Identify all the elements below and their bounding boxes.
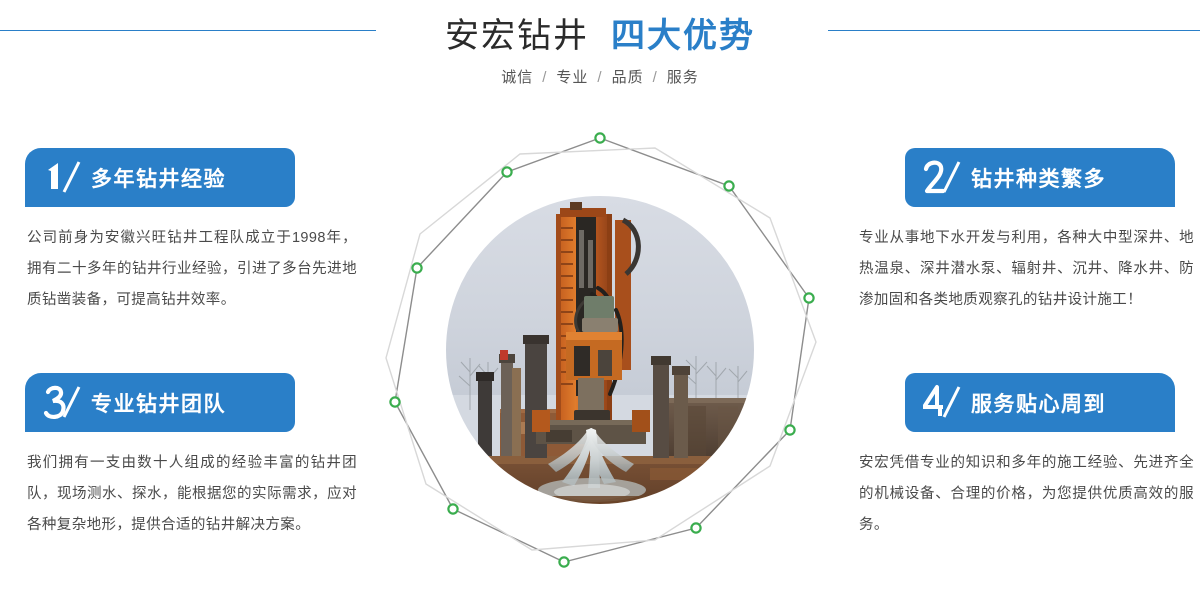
vertex-marker-left (412, 263, 421, 272)
feature-4-title: 服务贴心周到 (971, 388, 1106, 418)
subtitle-separator-2: / (653, 69, 658, 86)
page-header: 安宏钻井四大优势 诚信/专业/品质/服务 (0, 0, 1200, 110)
subtitle-separator-1: / (597, 69, 602, 86)
feature-2-title: 钻井种类繁多 (971, 163, 1106, 193)
subtitle-item-3: 服务 (667, 69, 699, 86)
feature-3-body: 我们拥有一支由数十人组成的经验丰富的钻井团队，现场测水、探水，能根据您的实际需求… (27, 448, 357, 541)
number-three-icon (43, 383, 85, 423)
feature-card-4[interactable]: 服务贴心周到 安宏凭借专业的知识和多年的施工经验、先进齐全的机械设备、合理的价格… (845, 373, 1175, 541)
subtitle-list: 诚信/专业/品质/服务 (0, 66, 1200, 87)
vertex-marker-bottom-right (691, 523, 700, 532)
vertex-marker-upper-right (724, 181, 733, 190)
feature-2-header: 钻井种类繁多 (905, 148, 1175, 207)
feature-card-3[interactable]: 专业钻井团队 我们拥有一支由数十人组成的经验丰富的钻井团队，现场测水、探水，能根… (25, 373, 355, 541)
number-one-icon (43, 158, 85, 198)
vertex-marker-right (804, 293, 813, 302)
vertex-marker-top (595, 133, 604, 142)
feature-2-body: 专业从事地下水开发与利用，各种大中型深井、地热温泉、深井潜水泵、辐射井、沉井、降… (859, 223, 1194, 316)
feature-1-title: 多年钻井经验 (91, 163, 226, 193)
vertex-marker-bottom-left (448, 504, 457, 513)
feature-card-2[interactable]: 钻井种类繁多 专业从事地下水开发与利用，各种大中型深井、地热温泉、深井潜水泵、辐… (845, 148, 1175, 316)
subtitle-separator-0: / (542, 69, 547, 86)
feature-1-body: 公司前身为安徽兴旺钻井工程队成立于1998年，拥有二十多年的钻井行业经验，引进了… (27, 223, 357, 316)
subtitle-item-2: 品质 (612, 69, 644, 86)
center-graphic (360, 110, 840, 590)
vertex-marker-bottom (559, 557, 568, 566)
vertex-marker-upper-left (502, 167, 511, 176)
feature-1-header: 多年钻井经验 (25, 148, 295, 207)
vertex-marker-lower-left (390, 397, 399, 406)
subtitle-item-0: 诚信 (501, 69, 533, 86)
feature-4-header: 服务贴心周到 (905, 373, 1175, 432)
feature-card-1[interactable]: 多年钻井经验 公司前身为安徽兴旺钻井工程队成立于1998年，拥有二十多年的钻井行… (25, 148, 355, 316)
page-title: 安宏钻井四大优势 (0, 8, 1200, 57)
number-two-icon (923, 158, 965, 198)
title-main-text: 安宏钻井 (445, 17, 589, 55)
page-root: 安宏钻井四大优势 诚信/专业/品质/服务 多年钻井经验 公司前身为安徽兴旺钻井工… (0, 0, 1200, 600)
feature-3-header: 专业钻井团队 (25, 373, 295, 432)
feature-4-body: 安宏凭借专业的知识和多年的施工经验、先进齐全的机械设备、合理的价格，为您提供优质… (859, 448, 1194, 541)
subtitle-item-1: 专业 (556, 69, 588, 86)
number-four-icon (923, 383, 965, 423)
feature-3-title: 专业钻井团队 (91, 388, 226, 418)
vertex-marker-lower-right (785, 425, 794, 434)
title-accent-text: 四大优势 (611, 17, 755, 55)
drilling-rig-photo (445, 195, 755, 518)
